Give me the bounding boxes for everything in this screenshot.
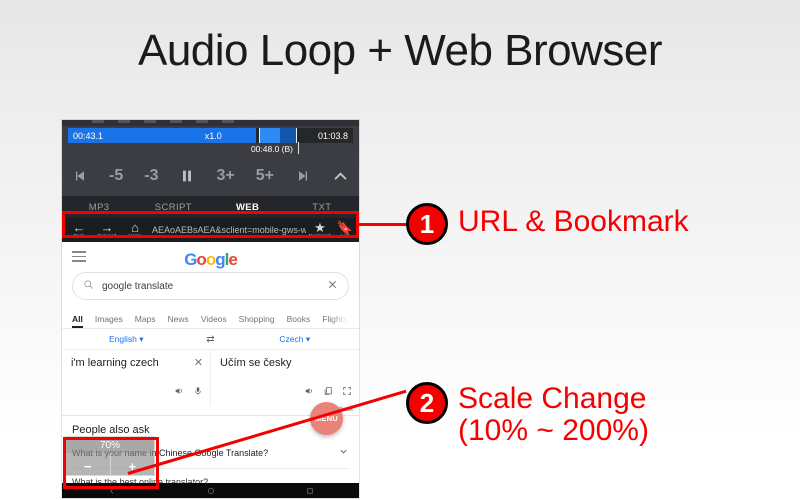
target-actions <box>304 383 352 401</box>
skip-next-icon[interactable] <box>295 168 311 184</box>
chevron-down-icon[interactable] <box>338 446 349 459</box>
highlight-box-url-bookmark <box>62 211 359 238</box>
tabs-fade <box>331 306 359 328</box>
target-language-select[interactable]: Czech ▾ <box>231 334 360 345</box>
clear-search-icon[interactable] <box>327 277 338 295</box>
fullscreen-icon[interactable] <box>342 383 352 401</box>
search-tab-videos[interactable]: Videos <box>201 314 227 328</box>
seek-marker-b <box>296 128 297 143</box>
google-logo: Google <box>62 250 359 270</box>
clear-translate-icon[interactable]: ✕ <box>194 356 203 369</box>
android-recents-icon[interactable] <box>306 482 314 499</box>
search-tab-books[interactable]: Books <box>287 314 311 328</box>
player-controls: -5 -3 3+ 5+ <box>62 156 359 196</box>
search-tab-all[interactable]: All <box>72 314 83 328</box>
translate-source-pane: i'm learning czech ✕ <box>62 350 211 406</box>
translate-target-text: Učím se česky <box>220 357 350 369</box>
rewind-3-button[interactable]: -3 <box>144 168 158 184</box>
seek-marker-a <box>259 128 260 143</box>
annotation-label-2: Scale Change (10% ~ 200%) <box>458 383 649 448</box>
source-actions <box>174 383 203 401</box>
leader-line-1 <box>359 223 411 226</box>
annotation-badge-1: 1 <box>406 203 448 245</box>
search-tab-maps[interactable]: Maps <box>135 314 156 328</box>
swap-languages-icon[interactable]: ⇄ <box>191 334 231 345</box>
search-tab-images[interactable]: Images <box>95 314 123 328</box>
page-title: Audio Loop + Web Browser <box>0 26 800 76</box>
android-home-icon[interactable] <box>207 482 215 499</box>
seekbar-container: 00:43.1 x1.0 01:03.8 00:48.0 (B) <box>62 126 359 156</box>
annotation-label-1: URL & Bookmark <box>458 206 689 238</box>
search-category-tabs: All Images Maps News Videos Shopping Boo… <box>62 306 359 329</box>
loop-marker-label: 00:48.0 (B) <box>251 144 293 154</box>
microphone-icon[interactable] <box>193 383 203 401</box>
translate-body: i'm learning czech ✕ Učím se česky <box>62 350 359 406</box>
rewind-5-button[interactable]: -5 <box>109 168 123 184</box>
seek-loop-a <box>260 128 280 143</box>
search-tab-shopping[interactable]: Shopping <box>239 314 275 328</box>
chevron-up-icon[interactable] <box>332 168 349 185</box>
skip-previous-icon[interactable] <box>72 168 88 184</box>
google-header: Google <box>62 242 359 272</box>
translate-card: English ▾ ⇄ Czech ▾ i'm learning czech ✕ <box>62 329 359 416</box>
forward-5-button[interactable]: 5+ <box>256 168 274 184</box>
playback-rate: x1.0 <box>205 131 222 141</box>
annotation-badge-2: 2 <box>406 382 448 424</box>
forward-3-button[interactable]: 3+ <box>216 168 234 184</box>
speaker-icon[interactable] <box>304 383 314 401</box>
source-language-select[interactable]: English ▾ <box>62 334 191 345</box>
translate-source-text[interactable]: i'm learning czech <box>71 357 201 369</box>
paa-heading: People also ask <box>72 424 349 436</box>
translate-target-pane: Učím se česky <box>211 350 359 406</box>
copy-icon[interactable] <box>323 383 333 401</box>
highlight-box-scale-change <box>63 437 159 489</box>
translate-language-row: English ▾ ⇄ Czech ▾ <box>62 329 359 350</box>
loop-marker-tick <box>298 142 299 154</box>
search-icon <box>83 277 94 295</box>
search-input[interactable]: google translate <box>94 281 327 292</box>
speaker-icon[interactable] <box>174 383 184 401</box>
seek-loop-b <box>280 128 296 143</box>
search-box[interactable]: google translate <box>72 272 349 300</box>
audio-player: 00:43.1 x1.0 01:03.8 00:48.0 (B) -5 -3 3… <box>62 120 359 218</box>
search-tab-news[interactable]: News <box>168 314 189 328</box>
pause-icon[interactable] <box>179 168 195 184</box>
seekbar[interactable]: 00:43.1 x1.0 01:03.8 <box>68 128 353 143</box>
total-time: 01:03.8 <box>318 131 348 141</box>
elapsed-time: 00:43.1 <box>73 131 103 141</box>
player-peek-row <box>62 120 359 126</box>
loop-marker-row: 00:48.0 (B) <box>68 143 353 156</box>
